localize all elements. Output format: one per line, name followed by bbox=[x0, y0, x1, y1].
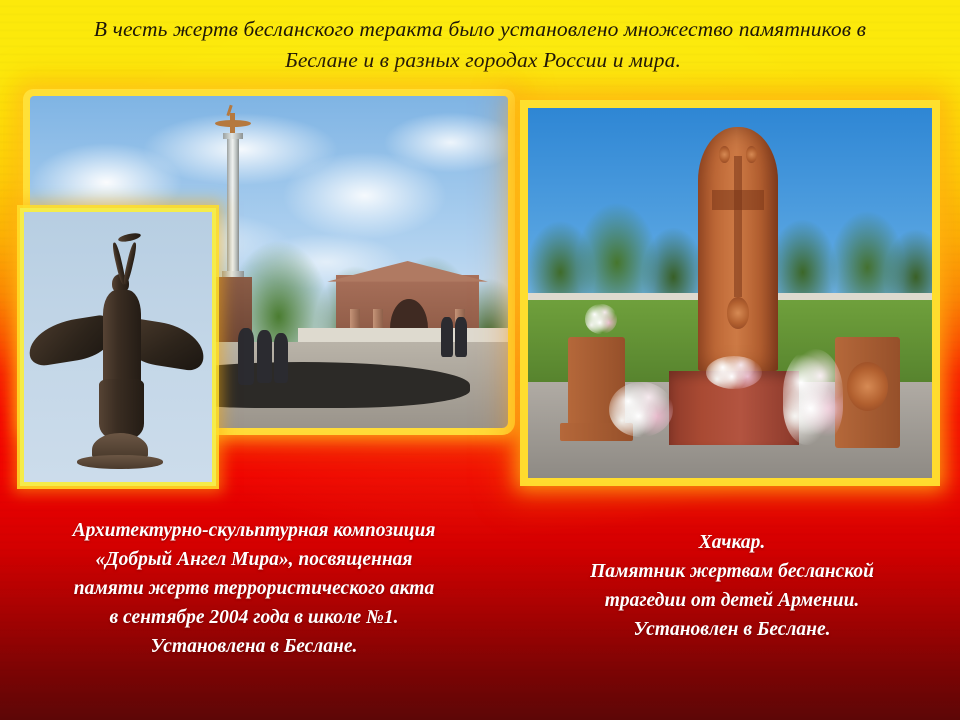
carved-stone-right-motif bbox=[847, 362, 888, 411]
person-2 bbox=[257, 330, 272, 383]
caption-right-line-3: трагедии от детей Армении. bbox=[510, 586, 954, 615]
caption-right-line-4: Установлен в Беслане. bbox=[510, 615, 954, 644]
caption-left-line-2: «Добрый Ангел Мира», посвященная bbox=[8, 545, 500, 574]
caption-right-line-2: Памятник жертвам бесланской bbox=[510, 557, 954, 586]
column-shaft bbox=[227, 139, 239, 272]
khachkar-rosette bbox=[727, 297, 750, 329]
khachkar-cross-horizontal bbox=[712, 190, 764, 210]
khachkar-slab bbox=[698, 127, 779, 371]
bronze-angel-statue-photo[interactable] bbox=[20, 208, 216, 486]
angel-figure-wings bbox=[215, 120, 251, 127]
caption-left-line-3: памяти жертв террористического акта bbox=[8, 574, 500, 603]
caption-right: Хачкар. Памятник жертвам бесланской траг… bbox=[510, 528, 954, 644]
caption-left-line-5: Установлена в Беслане. bbox=[8, 632, 500, 661]
khachkar-scene bbox=[528, 108, 932, 478]
khachkar-orb-left bbox=[719, 146, 730, 163]
slide-title: В честь жертв бесланского теракта было у… bbox=[50, 14, 910, 76]
flower-wreath-right bbox=[783, 349, 844, 445]
slide-title-line-1: В честь жертв бесланского теракта было у… bbox=[50, 14, 910, 45]
person-6 bbox=[455, 317, 466, 357]
person-3 bbox=[274, 333, 288, 383]
statue-pedestal-brim bbox=[77, 455, 163, 469]
person-5 bbox=[441, 317, 452, 357]
carved-stone-right bbox=[835, 337, 900, 448]
person-1 bbox=[238, 328, 254, 384]
caption-left-line-1: Архитектурно-скульптурная композиция bbox=[8, 516, 500, 545]
slide-title-line-2: Беслане и в разных городах России и мира… bbox=[50, 45, 910, 76]
khachkar-monument-photo[interactable] bbox=[528, 108, 932, 478]
angel-statue-scene bbox=[24, 212, 212, 482]
khachkar-cross-vertical bbox=[734, 156, 742, 298]
flower-vase-left bbox=[585, 304, 617, 334]
caption-right-line-1: Хачкар. bbox=[510, 528, 954, 557]
caption-left-line-4: в сентябре 2004 года в школе №1. bbox=[8, 603, 500, 632]
slide-root: В честь жертв бесланского теракта было у… bbox=[0, 0, 960, 720]
statue-robe-hem bbox=[99, 379, 144, 438]
khachkar-orb-right bbox=[746, 146, 757, 163]
caption-left: Архитектурно-скульптурная композиция «До… bbox=[8, 516, 500, 661]
